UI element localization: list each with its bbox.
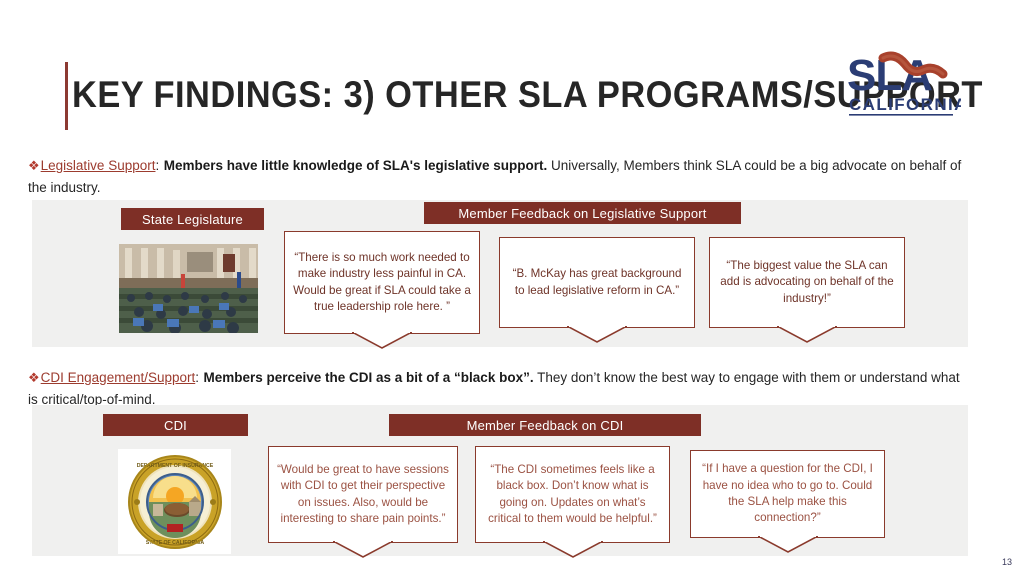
- label-state-legislature: State Legislature: [121, 208, 264, 230]
- label-cdi: CDI: [103, 414, 248, 436]
- quote-bubble: “B. McKay has great background to lead l…: [499, 237, 695, 328]
- bullet-diamond-icon: ❖: [28, 158, 40, 173]
- label-member-feedback-cdi: Member Feedback on CDI: [389, 414, 701, 436]
- section-2-bold: Members perceive the CDI as a bit of a “…: [203, 370, 533, 385]
- section-1-colon: :: [155, 158, 159, 173]
- page-number: 13: [1002, 557, 1012, 567]
- section-2-lead: CDI Engagement/Support: [41, 370, 196, 385]
- sla-california-logo: SLA CALIFORNIA: [843, 48, 961, 120]
- bubble-tail-icon: [543, 541, 603, 558]
- cdi-seal-image: DEPARTMENT OF INSURANCE STATE OF CALIFOR…: [118, 449, 231, 554]
- bubble-tail-icon: [333, 541, 393, 558]
- quote-text: “B. McKay has great background to lead l…: [499, 237, 695, 328]
- quote-text: “There is so much work needed to make in…: [284, 231, 480, 334]
- bubble-tail-icon: [777, 326, 837, 343]
- quote-text: “The CDI sometimes feels like a black bo…: [475, 446, 670, 543]
- state-legislature-photo: [119, 244, 258, 333]
- quote-text: “The biggest value the SLA can add is ad…: [709, 237, 905, 328]
- slide-canvas: KEY FINDINGS: 3) OTHER SLA PROGRAMS/SUPP…: [0, 0, 1024, 577]
- section-2-colon: :: [195, 370, 199, 385]
- bubble-tail-icon: [567, 326, 627, 343]
- quote-bubble: “If I have a question for the CDI, I hav…: [690, 450, 885, 538]
- bullet-diamond-icon: ❖: [28, 370, 40, 385]
- quote-bubble: “Would be great to have sessions with CD…: [268, 446, 458, 543]
- section-1-bold: Members have little knowledge of SLA's l…: [164, 158, 548, 173]
- label-member-feedback-legislative: Member Feedback on Legislative Support: [424, 202, 741, 224]
- section-1-lead: Legislative Support: [41, 158, 156, 173]
- quote-bubble: “There is so much work needed to make in…: [284, 231, 480, 334]
- quote-text: “Would be great to have sessions with CD…: [268, 446, 458, 543]
- title-accent-bar: [65, 62, 68, 130]
- bubble-tail-icon: [758, 536, 818, 553]
- quote-bubble: “The biggest value the SLA can add is ad…: [709, 237, 905, 328]
- svg-text:CALIFORNIA: CALIFORNIA: [849, 95, 961, 114]
- quote-text: “If I have a question for the CDI, I hav…: [690, 450, 885, 538]
- section-1-bullet: ❖Legislative Support: Members have littl…: [28, 155, 973, 198]
- bubble-tail-icon: [352, 332, 412, 349]
- quote-bubble: “The CDI sometimes feels like a black bo…: [475, 446, 670, 543]
- section-2-bullet: ❖CDI Engagement/Support: Members perceiv…: [28, 367, 973, 410]
